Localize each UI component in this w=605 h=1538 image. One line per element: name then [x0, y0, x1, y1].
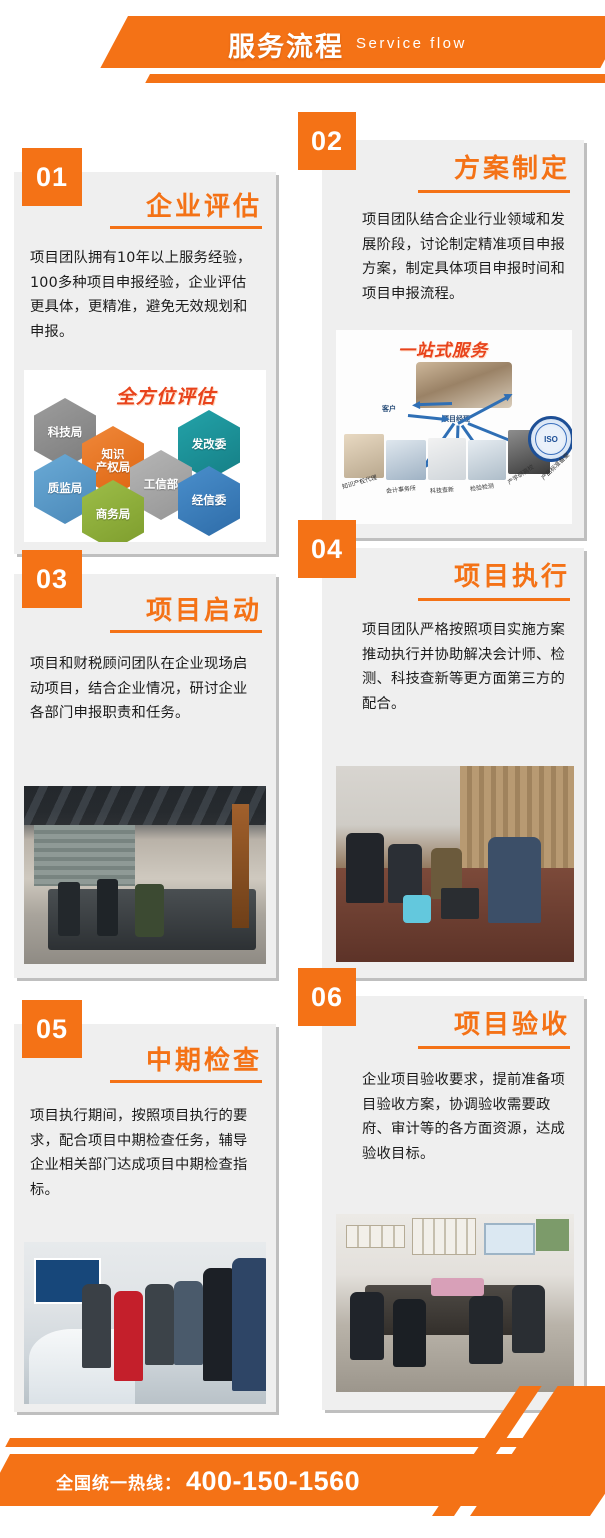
step-photo	[336, 766, 574, 962]
step-description: 项目执行期间，按照项目执行的要求，配合项目中期检查任务，辅导企业相关部门达成项目…	[30, 1104, 260, 1202]
photo-chair	[97, 879, 119, 936]
hotline-label: 全国统一热线：	[56, 1469, 182, 1494]
node-photo-ip	[344, 434, 384, 478]
node-label: 科技查新	[430, 484, 455, 495]
title-underline	[418, 190, 570, 193]
step-card-04[interactable]: 04 项目执行 项目团队严格按照项目实施方案推动执行并协助解决会计师、检测、科技…	[322, 548, 584, 978]
photo-person	[388, 844, 421, 903]
step-photo	[336, 1214, 574, 1392]
node-label: 检验检测	[469, 481, 494, 493]
photo-person	[488, 837, 540, 923]
photo-person	[145, 1284, 174, 1365]
page-title: 服务流程	[228, 25, 344, 64]
hexagon-node-label: 经信委	[192, 494, 227, 507]
step-number-badge: 04	[298, 520, 356, 578]
header-banner-accent-stripe	[145, 74, 605, 83]
photo-chair	[393, 1299, 426, 1367]
photo-wood-panel	[232, 804, 249, 929]
title-underline	[110, 226, 262, 229]
photo-certificates	[412, 1218, 476, 1256]
step-title: 项目启动	[146, 590, 262, 627]
page-header: 服务流程 Service flow	[0, 0, 605, 108]
flow-arrow	[408, 414, 444, 421]
photo-chair	[469, 1296, 502, 1364]
photo-person	[135, 884, 164, 937]
photo-chair	[350, 1292, 383, 1360]
title-underline	[110, 630, 262, 633]
title-underline	[418, 598, 570, 601]
step-description: 项目团队严格按照项目实施方案推动执行并协助解决会计师、检测、科技查新等更方面第三…	[362, 618, 570, 716]
step-number-badge: 06	[298, 968, 356, 1026]
photo-certificates	[346, 1225, 405, 1248]
step-title: 企业评估	[146, 186, 262, 223]
photo-ceiling	[24, 786, 266, 825]
page-footer: 全国统一热线： 400-150-1560	[0, 1430, 605, 1538]
one-stop-service-diagram: 一站式服务 客户 项目经理 ISO 知识产权代理 会计事务所 科技查新 检验检测…	[336, 330, 572, 524]
step-description: 企业项目验收要求，提前准备项目验收方案，协调验收需要政府、审计等的各方面资源，达…	[362, 1068, 570, 1166]
hotline-number[interactable]: 400-150-1560	[186, 1466, 360, 1497]
step-card-01[interactable]: 01 企业评估 项目团队拥有10年以上服务经验，100多种项目申报经验，企业评估…	[14, 172, 276, 554]
hexagon-node-label: 工信部	[144, 478, 179, 491]
step-number-badge: 01	[22, 148, 82, 206]
header-title-group: 服务流程 Service flow	[228, 22, 467, 66]
photo-whiteboard	[536, 1219, 569, 1251]
step-number-badge: 02	[298, 112, 356, 170]
hexagon-chart: 全方位评估 科技局 知识 产权局 发改委 质监局 工信部 商务局 经信委	[24, 370, 266, 542]
page-subtitle: Service flow	[356, 35, 467, 54]
one-stop-service-title: 一站式服务	[398, 336, 488, 361]
photo-person	[82, 1284, 111, 1368]
hexagon-node-label: 科技局	[48, 426, 83, 439]
node-photo-search	[428, 438, 466, 480]
photo-bag	[403, 895, 432, 922]
step-title: 项目验收	[454, 1004, 570, 1041]
step-card-05[interactable]: 05 中期检查 项目执行期间，按照项目执行的要求，配合项目中期检查任务，辅导企业…	[14, 1024, 276, 1412]
step-description: 项目和财税顾问团队在企业现场启动项目，结合企业情况，研讨企业各部门申报职责和任务…	[30, 652, 260, 726]
hotline-group: 全国统一热线： 400-150-1560	[56, 1462, 360, 1500]
step-description: 项目团队结合企业行业领域和发展阶段，讨论制定精准项目申报方案，制定具体项目申报时…	[362, 208, 570, 306]
title-underline	[110, 1080, 262, 1083]
step-card-03[interactable]: 03 项目启动 项目和财税顾问团队在企业现场启动项目，结合企业情况，研讨企业各部…	[14, 574, 276, 978]
step-card-02[interactable]: 02 方案制定 项目团队结合企业行业领域和发展阶段，讨论制定精准项目申报方案，制…	[322, 140, 584, 538]
footer-accent-stripe	[5, 1438, 570, 1447]
step-title: 项目执行	[454, 556, 570, 593]
step-photo	[24, 1242, 266, 1404]
step-card-06[interactable]: 06 项目验收 企业项目验收要求，提前准备项目验收方案，协调验收需要政府、审计等…	[322, 996, 584, 1410]
photo-person-red-coat	[114, 1291, 143, 1382]
hub-label-customer: 客户	[382, 404, 396, 414]
step-number-badge: 05	[22, 1000, 82, 1058]
photo-person	[232, 1258, 266, 1391]
hexagon-node-label: 知识 产权局	[96, 448, 131, 474]
step-description: 项目团队拥有10年以上服务经验，100多种项目申报经验，企业评估更具体，更精准，…	[30, 246, 260, 344]
hexagon-node-label: 商务局	[96, 508, 131, 521]
photo-flowers	[431, 1278, 483, 1296]
node-photo-testing	[468, 440, 506, 480]
hexagon-node-label: 质监局	[48, 482, 83, 495]
title-underline	[418, 1046, 570, 1049]
step-title: 中期检查	[146, 1040, 262, 1077]
photo-chair	[512, 1285, 545, 1353]
node-label: 会计事务所	[386, 483, 417, 495]
photo-chair	[58, 882, 80, 935]
photo-person	[346, 833, 384, 904]
step-number-badge: 03	[22, 550, 82, 608]
photo-wall	[34, 825, 136, 886]
step-title: 方案制定	[454, 148, 570, 185]
photo-projector-screen	[484, 1223, 536, 1255]
node-photo-accounting	[386, 440, 426, 480]
photo-laptop	[441, 888, 479, 919]
step-photo	[24, 786, 266, 964]
photo-person	[174, 1281, 203, 1365]
hexagon-chart-title: 全方位评估	[116, 382, 216, 409]
hexagon-node-label: 发改委	[192, 438, 227, 451]
